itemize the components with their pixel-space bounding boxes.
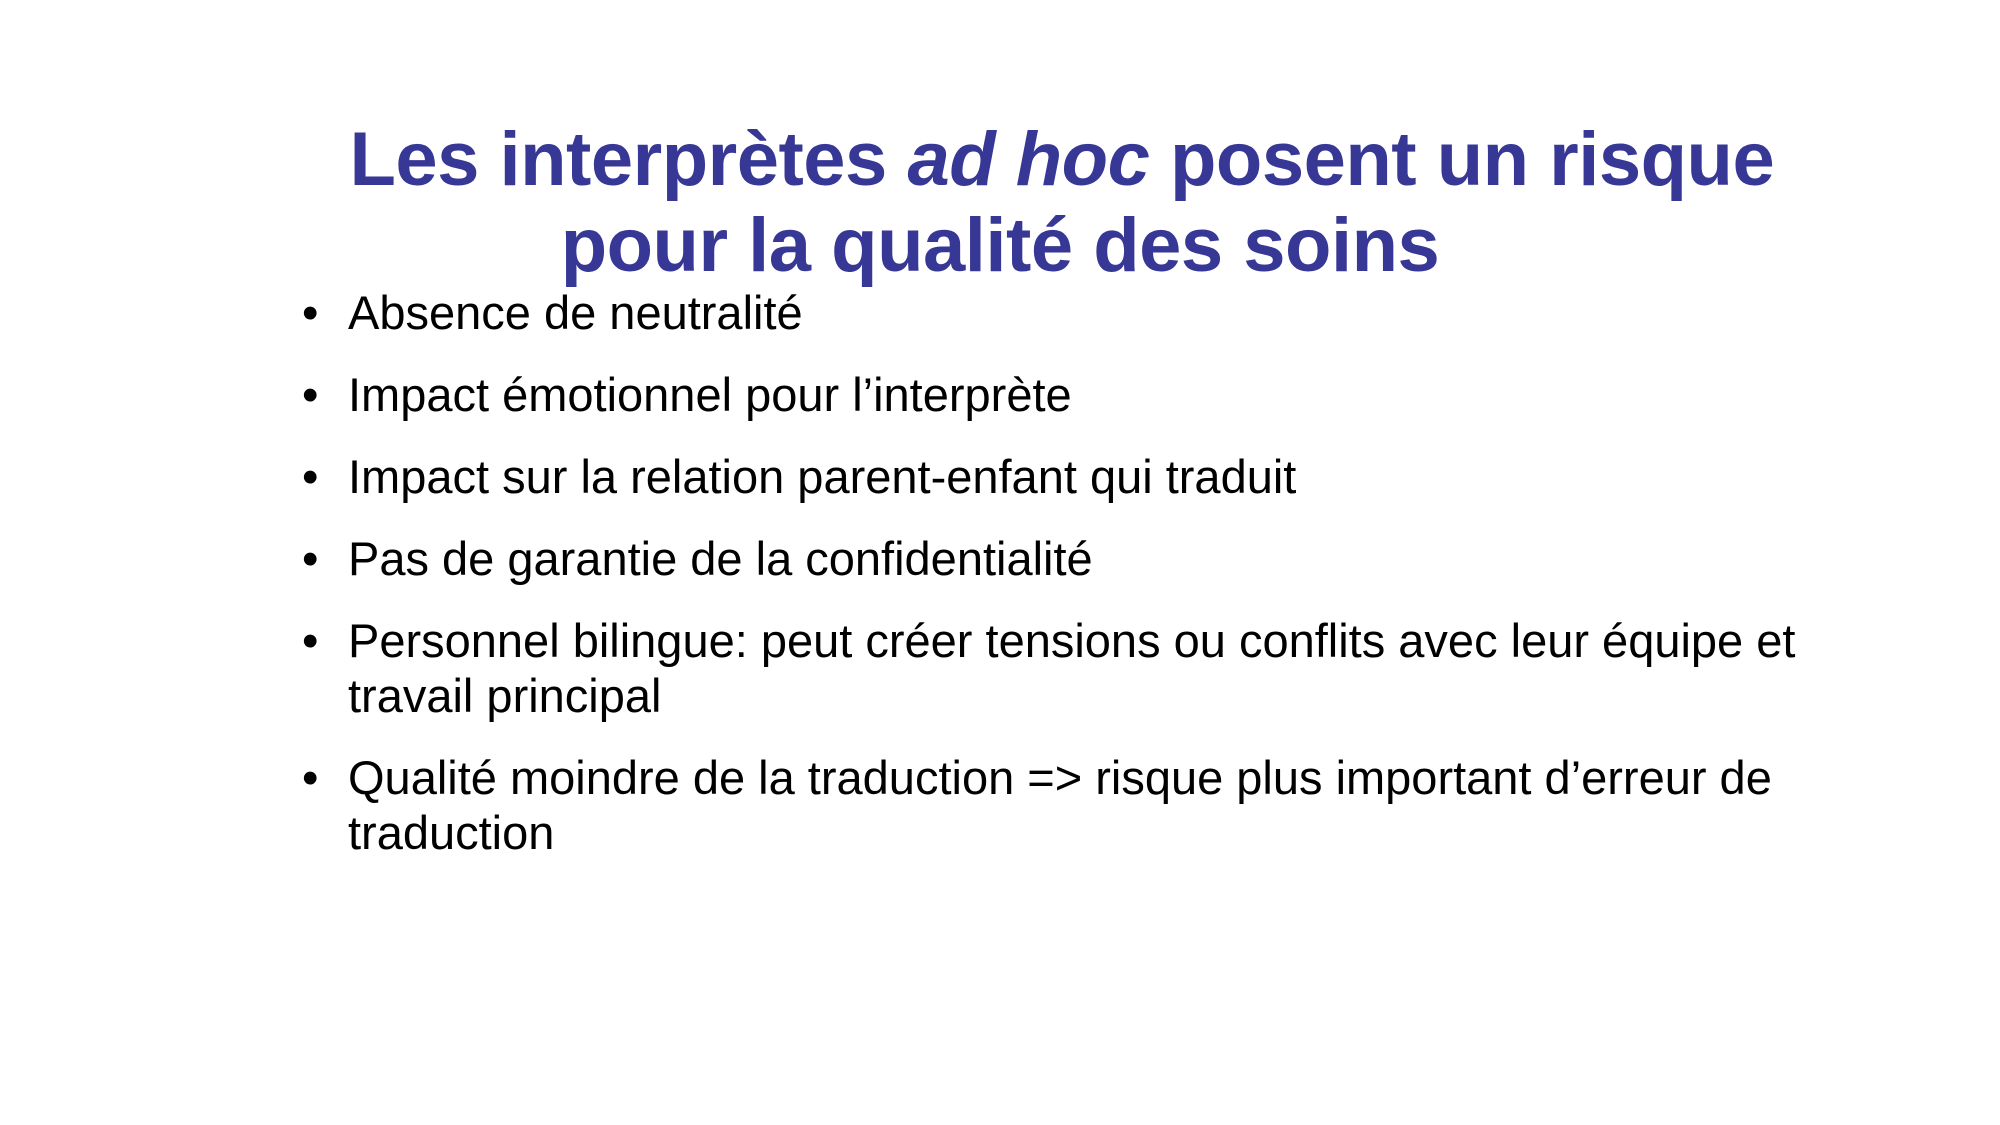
- slide: Les interprètes ad hoc posent un risque …: [0, 0, 2000, 1125]
- bullet-point-icon: •: [292, 368, 348, 423]
- list-item-label: Qualité moindre de la traduction => risq…: [348, 751, 1822, 861]
- bullet-point-icon: •: [292, 450, 348, 505]
- title-part-1: Les interprètes: [349, 117, 907, 202]
- bullet-point-icon: •: [292, 286, 348, 341]
- list-item-label: Absence de neutralité: [348, 286, 1822, 341]
- list-item: • Absence de neutralité: [292, 286, 1822, 341]
- bullet-point-icon: •: [292, 751, 348, 806]
- bullet-point-icon: •: [292, 532, 348, 587]
- bullet-point-icon: •: [292, 614, 348, 669]
- list-item: • Impact émotionnel pour l’interprète: [292, 368, 1822, 423]
- list-item-label: Impact émotionnel pour l’interprète: [348, 368, 1822, 423]
- title-part-emphasis: ad hoc: [907, 117, 1149, 202]
- list-item: • Personnel bilingue: peut créer tension…: [292, 614, 1822, 724]
- list-item-label: Impact sur la relation parent-enfant qui…: [348, 450, 1822, 505]
- list-item: • Impact sur la relation parent-enfant q…: [292, 450, 1822, 505]
- list-item: • Pas de garantie de la confidentialité: [292, 532, 1822, 587]
- list-item-label: Pas de garantie de la confidentialité: [348, 532, 1822, 587]
- bullet-list: • Absence de neutralité • Impact émotion…: [292, 286, 1822, 861]
- list-item-label: Personnel bilingue: peut créer tensions …: [348, 614, 1822, 724]
- list-item: • Qualité moindre de la traduction => ri…: [292, 751, 1822, 861]
